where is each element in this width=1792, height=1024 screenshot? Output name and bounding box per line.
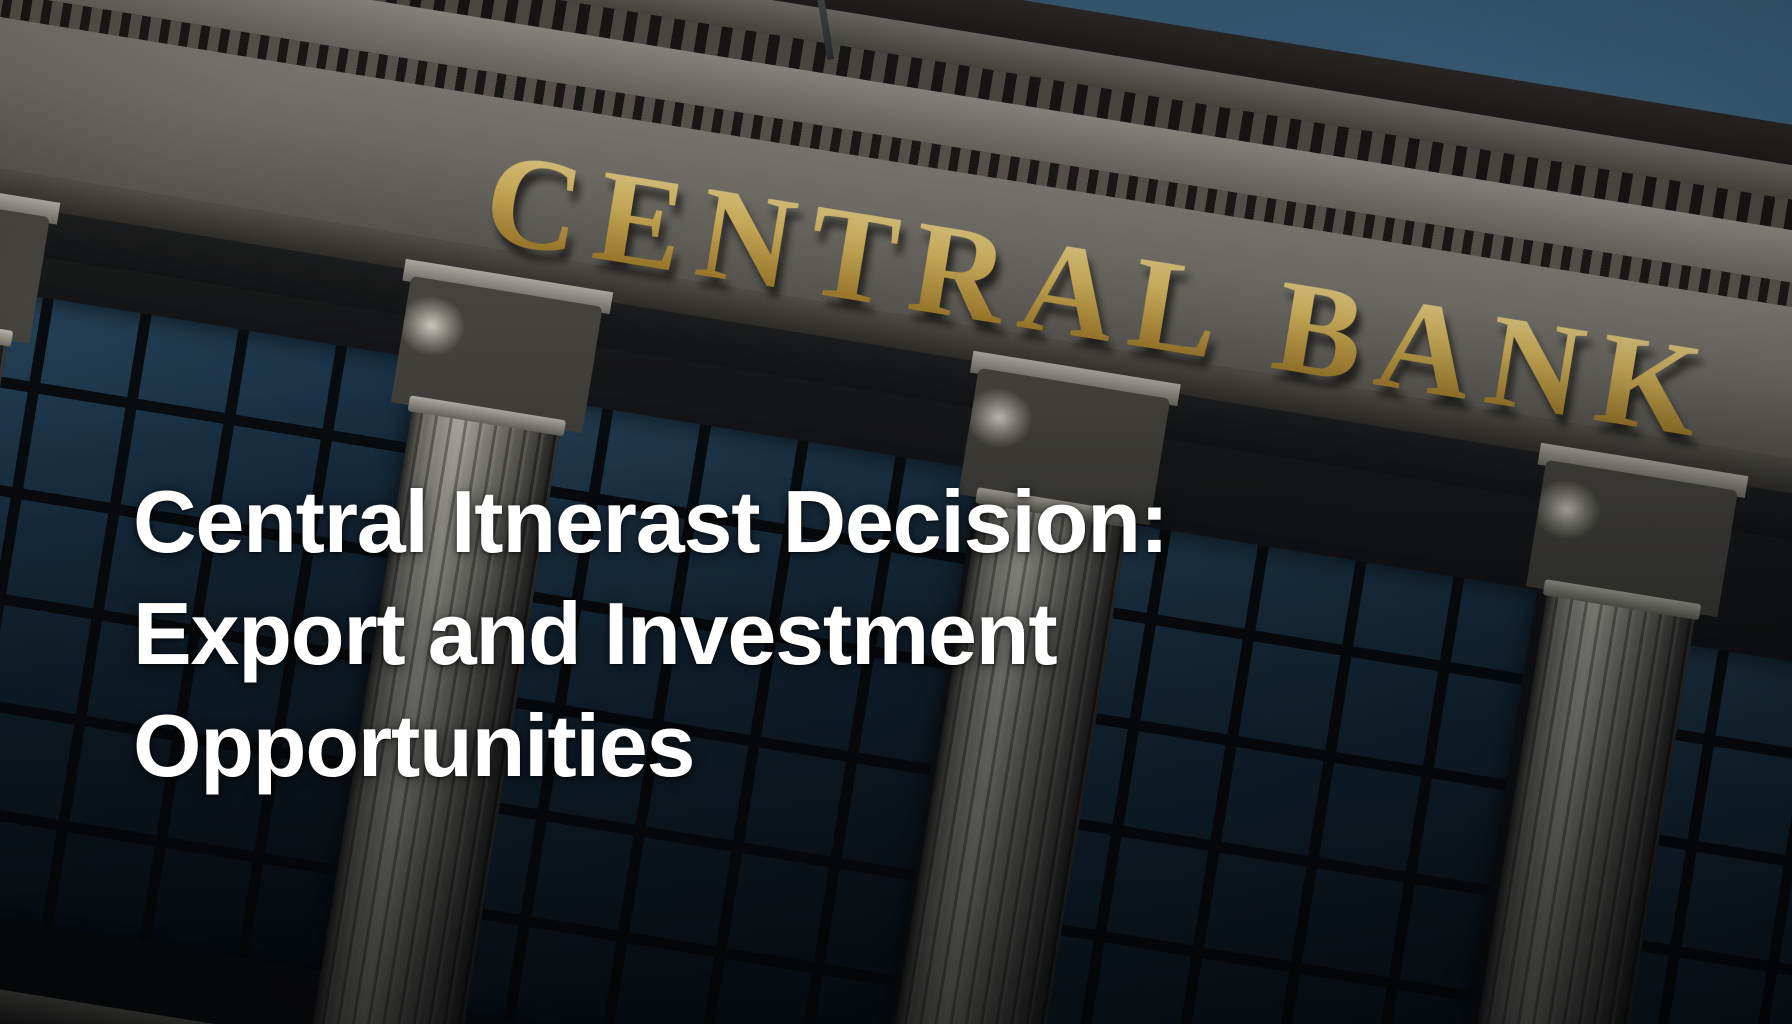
title-card: CENTRAL BANK (0, 0, 1792, 1024)
headline-title: Central Itnerast Decision: Export and In… (133, 466, 1433, 802)
